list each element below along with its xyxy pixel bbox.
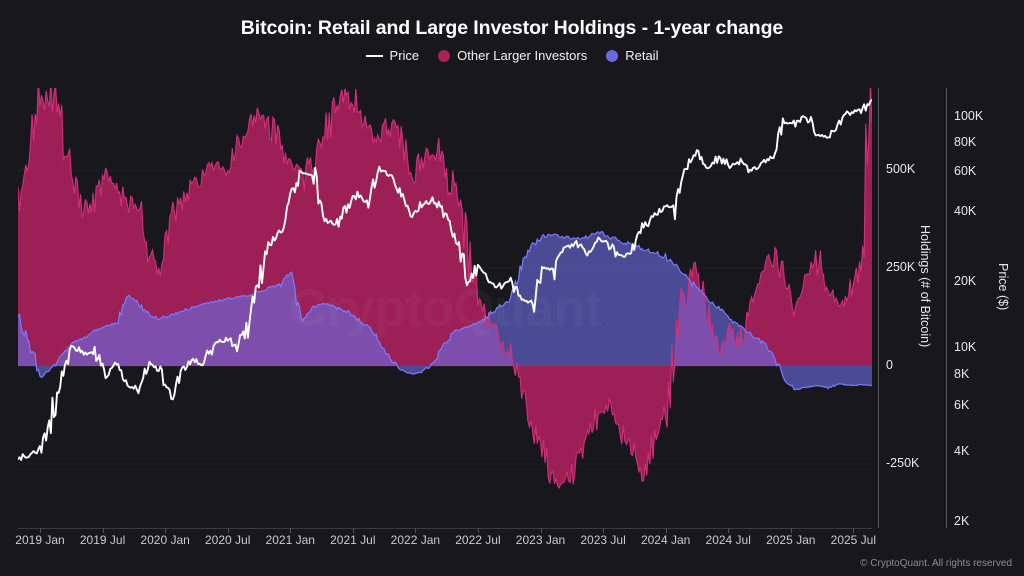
x-axis-tick-label: 2024 Jan <box>641 533 690 547</box>
price-tick-label: 20K <box>954 274 976 288</box>
holdings-axis-title: Holdings (# of Bitcoin) <box>918 225 932 347</box>
price-axis-title: Price ($) <box>996 263 1010 310</box>
chart-root: Bitcoin: Retail and Large Investor Holdi… <box>0 0 1024 576</box>
x-axis-tick-label: 2023 Jan <box>516 533 565 547</box>
holdings-tick-label: 500K <box>886 162 915 176</box>
chart-canvas <box>18 88 872 528</box>
x-axis-line <box>18 528 872 529</box>
price-tick-label: 2K <box>954 514 969 528</box>
holdings-tick-label: 250K <box>886 260 915 274</box>
x-axis-tick-label: 2020 Jan <box>140 533 189 547</box>
chart-legend: Price Other Larger Investors Retail <box>0 48 1024 63</box>
legend-item-other-larger-investors[interactable]: Other Larger Investors <box>438 48 587 63</box>
legend-label-price: Price <box>390 48 420 63</box>
x-axis-tick-label: 2023 Jul <box>580 533 625 547</box>
price-tick-label: 6K <box>954 398 969 412</box>
price-tick-label: 100K <box>954 109 983 123</box>
x-axis-tick-label: 2021 Jul <box>330 533 375 547</box>
holdings-axis-rule <box>878 88 879 528</box>
holdings-tick-label: -250K <box>886 456 919 470</box>
x-axis-tick-label: 2022 Jul <box>455 533 500 547</box>
x-axis-tick-label: 2019 Jan <box>15 533 64 547</box>
x-axis-tick-label: 2024 Jul <box>706 533 751 547</box>
page-title: Bitcoin: Retail and Large Investor Holdi… <box>0 17 1024 40</box>
holdings-tick-label: 0 <box>886 358 893 372</box>
price-axis-rule <box>946 88 947 528</box>
plot-area[interactable]: CryptoQuant <box>18 88 872 528</box>
price-tick-label: 4K <box>954 444 969 458</box>
legend-label-other-larger-investors: Other Larger Investors <box>457 48 587 63</box>
x-axis-tick-label: 2020 Jul <box>205 533 250 547</box>
price-line-swatch-icon <box>366 55 383 57</box>
price-tick-label: 60K <box>954 164 976 178</box>
price-tick-label: 10K <box>954 340 976 354</box>
x-axis-tick-label: 2021 Jan <box>266 533 315 547</box>
price-tick-label: 40K <box>954 204 976 218</box>
x-axis-tick-label: 2025 Jan <box>766 533 815 547</box>
series-area-other-larger-investors <box>18 88 872 488</box>
copyright-notice: © CryptoQuant. All rights reserved <box>860 558 1012 569</box>
legend-item-retail[interactable]: Retail <box>606 48 658 63</box>
x-axis-tick-label: 2025 Jul <box>831 533 876 547</box>
legend-label-retail: Retail <box>625 48 658 63</box>
x-axis-tick-label: 2022 Jan <box>391 533 440 547</box>
legend-item-price[interactable]: Price <box>366 48 420 63</box>
large-investors-dot-icon <box>438 50 450 62</box>
x-axis-tick-label: 2019 Jul <box>80 533 125 547</box>
price-tick-label: 8K <box>954 367 969 381</box>
price-tick-label: 80K <box>954 135 976 149</box>
retail-dot-icon <box>606 50 618 62</box>
